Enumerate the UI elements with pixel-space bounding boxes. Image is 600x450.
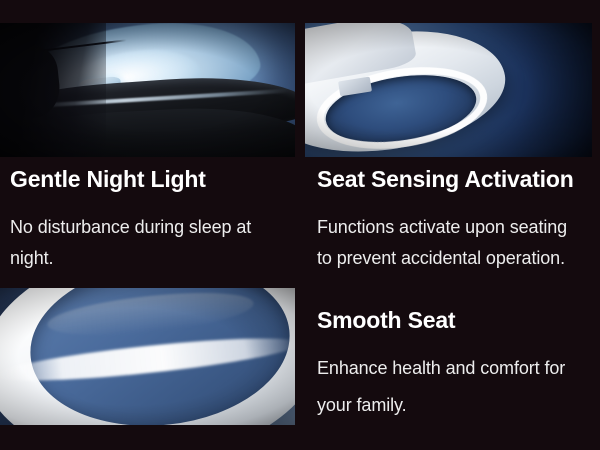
seat-sensing-image <box>305 23 592 157</box>
vignette-overlay <box>305 23 592 157</box>
feature-banner: Gentle Night Light No disturbance during… <box>0 0 600 450</box>
night-light-image <box>0 23 295 157</box>
smooth-seat-description: Enhance health and comfort for your fami… <box>317 350 595 424</box>
description-line: Enhance health and comfort for <box>317 350 595 387</box>
seat-sensing-heading: Seat Sensing Activation <box>317 166 574 193</box>
smooth-seat-image <box>0 288 295 425</box>
description-line: No disturbance during sleep at <box>10 212 290 243</box>
night-light-heading: Gentle Night Light <box>10 166 206 193</box>
vignette-overlay <box>0 23 295 157</box>
description-line: to prevent accidental operation. <box>317 243 595 274</box>
description-line: your family. <box>317 387 595 424</box>
smooth-seat-heading: Smooth Seat <box>317 307 455 334</box>
description-line: Functions activate upon seating <box>317 212 595 243</box>
night-light-description: No disturbance during sleep at night. <box>10 212 290 274</box>
description-line: night. <box>10 243 290 274</box>
seat-sensing-description: Functions activate upon seating to preve… <box>317 212 595 274</box>
vignette-overlay <box>0 288 295 425</box>
